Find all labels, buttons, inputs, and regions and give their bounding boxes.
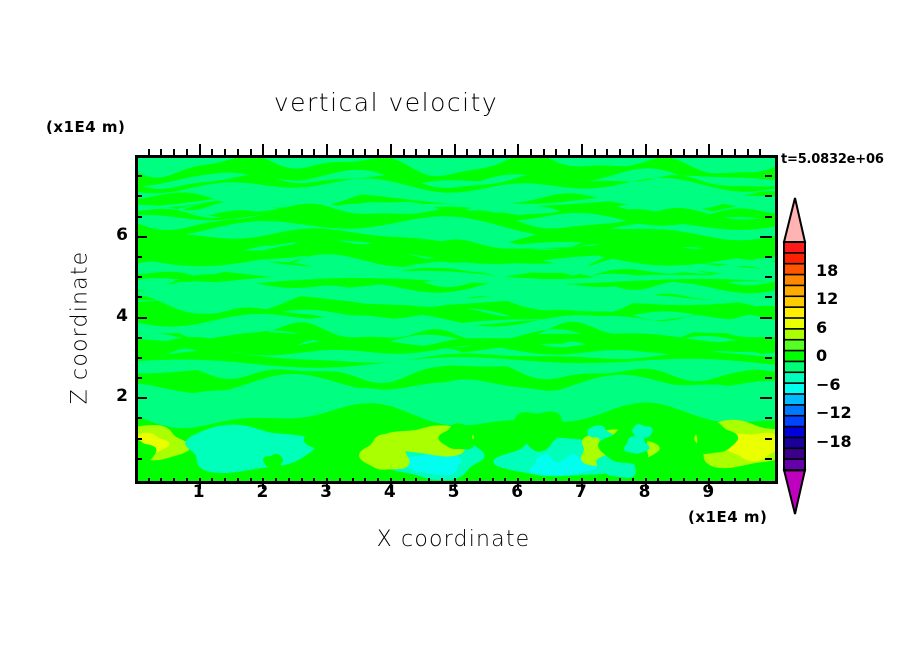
axis-tick bbox=[517, 144, 519, 155]
y-tick-label: 6 bbox=[98, 225, 128, 245]
page-title: vertical velocity bbox=[0, 88, 772, 117]
x-axis-units-label: (x1E4 m) bbox=[688, 508, 767, 526]
colorbar-labels: 181260−6−12−18 bbox=[780, 196, 900, 516]
x-axis-title: X coordinate bbox=[135, 527, 772, 552]
colorbar-tick-label: 0 bbox=[816, 346, 827, 365]
x-tick-label: 5 bbox=[439, 482, 469, 502]
x-tick-label: 8 bbox=[630, 482, 660, 502]
axis-tick bbox=[645, 144, 647, 155]
time-annotation: t=5.0832e+06 bbox=[781, 152, 884, 167]
colorbar-tick-label: −18 bbox=[816, 432, 852, 451]
figure-root: vertical velocity (x1E4 m) t=5.0832e+06 … bbox=[0, 0, 904, 654]
x-tick-label: 4 bbox=[375, 482, 405, 502]
y-axis-units-label: (x1E4 m) bbox=[46, 118, 125, 136]
x-tick-label: 6 bbox=[502, 482, 532, 502]
colorbar-tick-label: 6 bbox=[816, 318, 827, 337]
y-tick-label: 2 bbox=[98, 386, 128, 406]
x-tick-label: 1 bbox=[184, 482, 214, 502]
axis-tick bbox=[262, 144, 264, 155]
axis-tick bbox=[581, 144, 583, 155]
colorbar-tick-label: −12 bbox=[816, 403, 852, 422]
x-tick-label: 3 bbox=[311, 482, 341, 502]
colorbar-tick-label: 12 bbox=[816, 289, 838, 308]
y-axis-title: Z coordinate bbox=[68, 218, 93, 438]
axis-tick bbox=[454, 144, 456, 155]
x-tick-label: 9 bbox=[693, 482, 723, 502]
contour-field bbox=[138, 158, 775, 481]
x-tick-label: 2 bbox=[247, 482, 277, 502]
colorbar-tick-label: −6 bbox=[816, 375, 841, 394]
axis-tick bbox=[708, 144, 710, 155]
y-tick-label: 4 bbox=[98, 306, 128, 326]
axis-tick bbox=[326, 144, 328, 155]
contour-plot-area bbox=[135, 155, 778, 484]
axis-tick bbox=[390, 144, 392, 155]
axis-tick bbox=[199, 144, 201, 155]
colorbar-tick-label: 18 bbox=[816, 261, 838, 280]
x-tick-label: 7 bbox=[566, 482, 596, 502]
